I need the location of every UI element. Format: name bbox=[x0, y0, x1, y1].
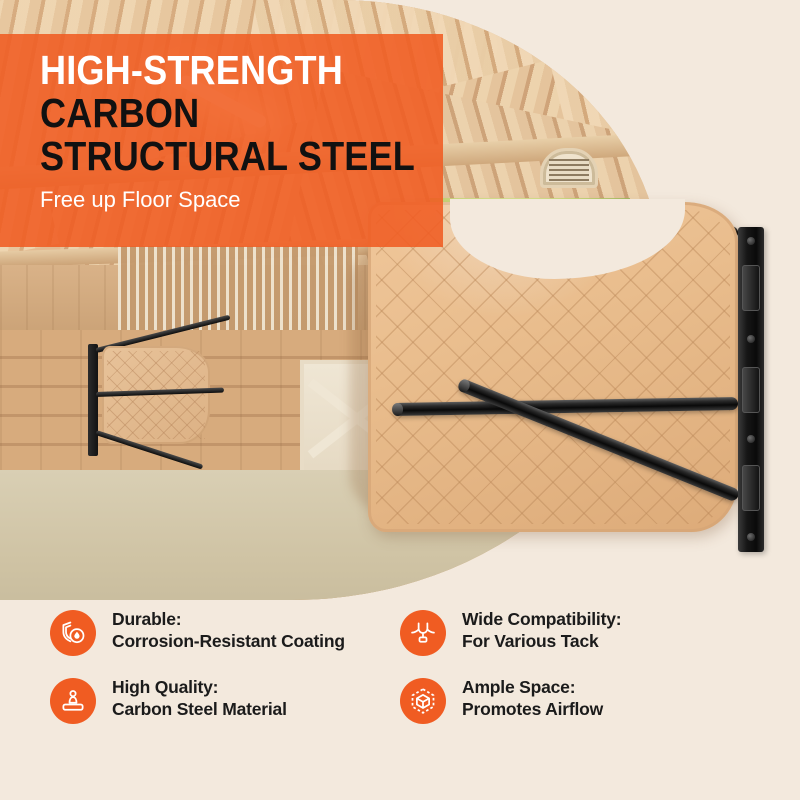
feature-list: Durable: Corrosion-Resistant Coating Wid… bbox=[0, 600, 800, 800]
feature-title: Ample Space: bbox=[462, 677, 575, 697]
feature-description: Corrosion-Resistant Coating bbox=[112, 631, 345, 651]
feature-item-space: Ample Space: Promotes Airflow bbox=[400, 676, 710, 724]
bar-bracket bbox=[742, 465, 760, 511]
bar-bracket bbox=[742, 265, 760, 311]
feature-text: High Quality: Carbon Steel Material bbox=[112, 676, 287, 721]
feature-description: Promotes Airflow bbox=[462, 699, 603, 719]
feature-item-durable: Durable: Corrosion-Resistant Coating bbox=[50, 608, 360, 656]
saddle-rack-icon bbox=[400, 610, 446, 656]
screw-icon bbox=[747, 237, 755, 245]
bar-end-cap bbox=[392, 403, 403, 416]
headline-line-2: CARBON bbox=[40, 93, 382, 133]
headline-line-1: HIGH-STRENGTH bbox=[40, 50, 382, 90]
feature-title: High Quality: bbox=[112, 677, 218, 697]
screw-icon bbox=[747, 335, 755, 343]
gable-vent-icon bbox=[540, 148, 598, 188]
product-marketing-image: HIGH-STRENGTH CARBON STRUCTURAL STEEL Fr… bbox=[0, 0, 800, 800]
screw-icon bbox=[747, 435, 755, 443]
stall-bars bbox=[118, 246, 358, 342]
headline-banner: HIGH-STRENGTH CARBON STRUCTURAL STEEL Fr… bbox=[0, 34, 443, 247]
feature-text: Durable: Corrosion-Resistant Coating bbox=[112, 608, 345, 653]
shield-droplet-icon bbox=[50, 610, 96, 656]
feature-text: Ample Space: Promotes Airflow bbox=[462, 676, 603, 721]
main-product bbox=[330, 205, 800, 605]
feature-item-quality: High Quality: Carbon Steel Material bbox=[50, 676, 360, 724]
wall-mounting-plate bbox=[738, 227, 764, 552]
feature-text: Wide Compatibility: For Various Tack bbox=[462, 608, 621, 653]
feature-item-compatibility: Wide Compatibility: For Various Tack bbox=[400, 608, 710, 656]
feature-title: Wide Compatibility: bbox=[462, 609, 621, 629]
feature-description: Carbon Steel Material bbox=[112, 699, 287, 719]
feature-description: For Various Tack bbox=[462, 631, 599, 651]
mini-mounting-plate bbox=[88, 344, 98, 456]
dashed-cube-icon bbox=[400, 678, 446, 724]
screw-icon bbox=[747, 533, 755, 541]
headline-line-3: STRUCTURAL STEEL bbox=[40, 136, 382, 176]
mini-saddle-rack bbox=[88, 330, 248, 470]
bar-bracket bbox=[742, 367, 760, 413]
feature-title: Durable: bbox=[112, 609, 181, 629]
headline-subtitle: Free up Floor Space bbox=[40, 187, 429, 213]
weight-on-platform-icon bbox=[50, 678, 96, 724]
hero-section: HIGH-STRENGTH CARBON STRUCTURAL STEEL Fr… bbox=[0, 0, 800, 620]
